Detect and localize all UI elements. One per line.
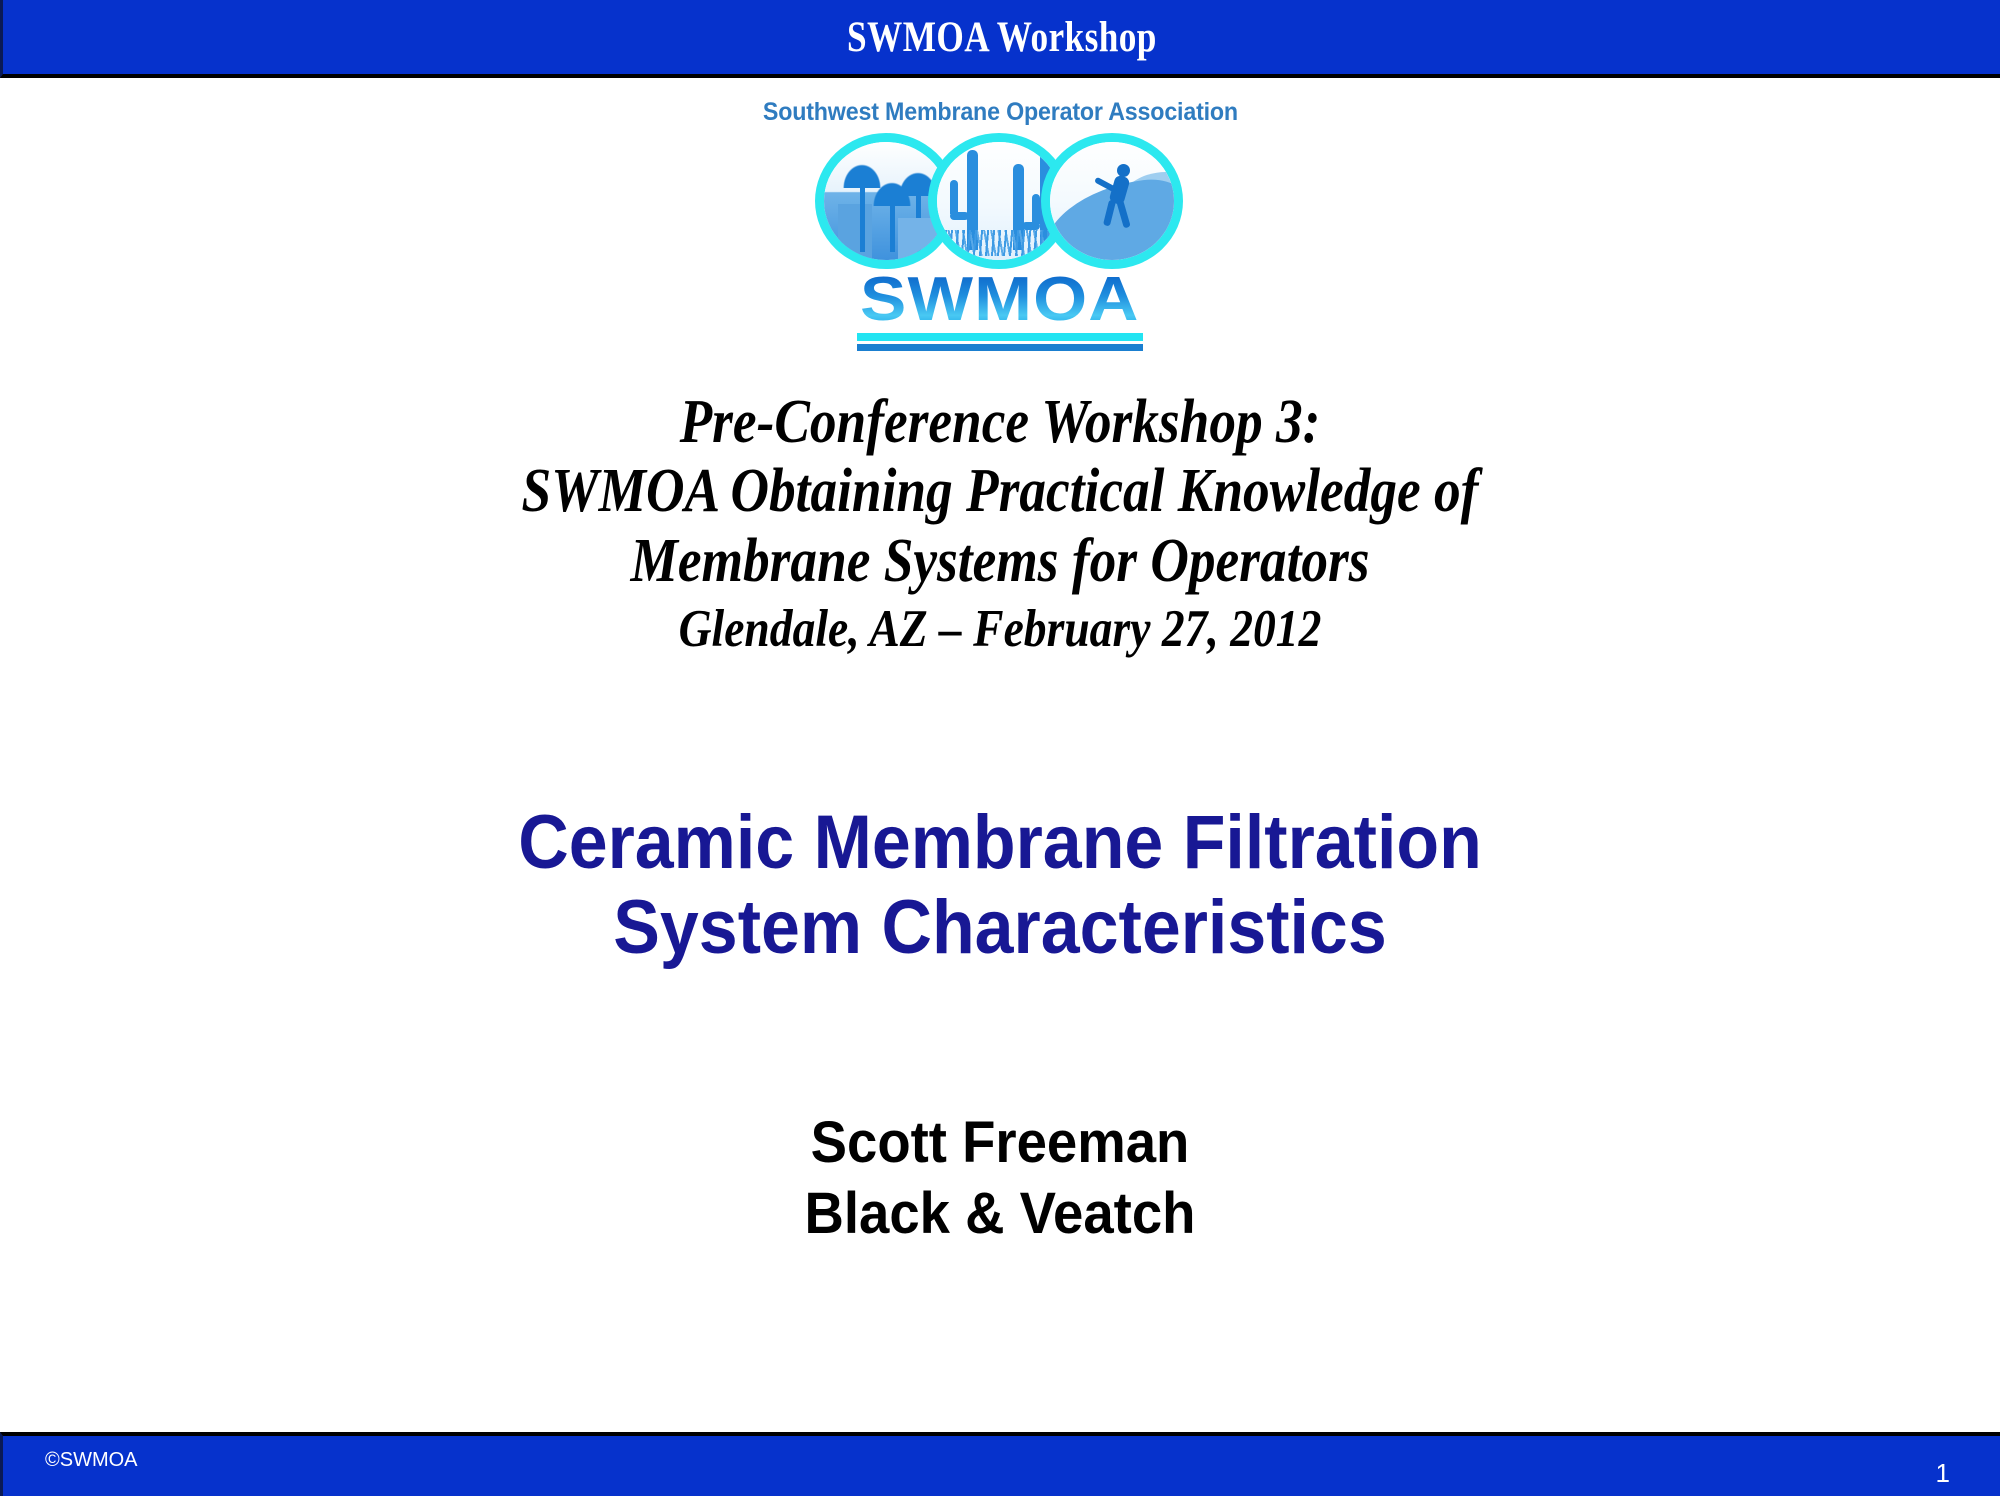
presentation-title-line-2: System Characteristics bbox=[80, 885, 1920, 970]
workshop-heading-line-1: Pre-Conference Workshop 3: bbox=[140, 388, 1860, 457]
footer-page-number: 1 bbox=[1936, 1458, 1950, 1489]
swmoa-wordmark-text: SWMOA bbox=[860, 271, 1139, 330]
workshop-heading-line-2: SWMOA Obtaining Practical Knowledge of bbox=[140, 457, 1860, 526]
presenter-block: Scott Freeman Black & Veatch bbox=[60, 1108, 1940, 1250]
workshop-heading: Pre-Conference Workshop 3: SWMOA Obtaini… bbox=[0, 388, 2000, 659]
presenter-organization: Black & Veatch bbox=[60, 1179, 1940, 1250]
workshop-heading-location-date: Glendale, AZ – February 27, 2012 bbox=[140, 600, 1860, 658]
presentation-title-line-1: Ceramic Membrane Filtration bbox=[80, 800, 1920, 885]
presentation-title: Ceramic Membrane Filtration System Chara… bbox=[80, 800, 1920, 970]
presenter-name: Scott Freeman bbox=[60, 1108, 1940, 1179]
swmoa-wordmark: SWMOA bbox=[857, 271, 1143, 351]
swmoa-logo-tagline: Southwest Membrane Operator Association bbox=[762, 98, 1237, 127]
slide: SWMOA Workshop Southwest Membrane Operat… bbox=[0, 0, 2000, 1500]
swmoa-logo: Southwest Membrane Operator Association bbox=[0, 98, 2000, 351]
swmoa-wordmark-rule-blue bbox=[857, 344, 1143, 351]
workshop-heading-line-3: Membrane Systems for Operators bbox=[140, 527, 1860, 596]
surfer-scene-icon bbox=[1041, 133, 1183, 269]
slide-header-bar: SWMOA Workshop bbox=[0, 0, 2000, 78]
footer-copyright: ©SWMOA bbox=[45, 1449, 138, 1472]
swmoa-logo-rings bbox=[815, 133, 1185, 269]
swmoa-wordmark-rule-cyan bbox=[857, 333, 1143, 341]
slide-header-title: SWMOA Workshop bbox=[847, 13, 1157, 62]
slide-footer-bar: ©SWMOA 1 bbox=[0, 1432, 2000, 1496]
